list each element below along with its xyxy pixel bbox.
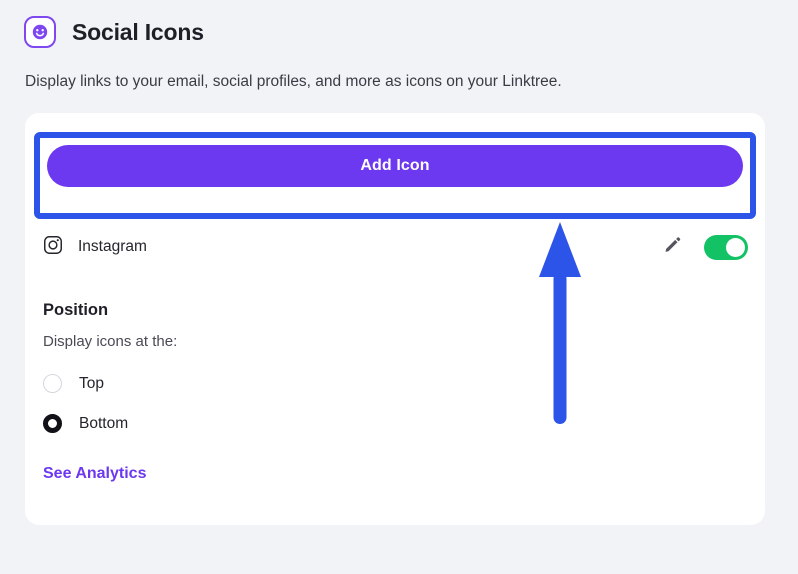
- page-subtitle: Display links to your email, social prof…: [25, 73, 562, 91]
- social-item-controls: [663, 235, 748, 260]
- social-item-toggle[interactable]: [704, 235, 748, 260]
- add-icon-button[interactable]: Add Icon: [47, 145, 743, 187]
- toggle-knob: [726, 238, 745, 257]
- radio-top-indicator[interactable]: [43, 374, 62, 393]
- radio-top-label: Top: [79, 375, 104, 393]
- radio-bottom-label: Bottom: [79, 415, 128, 433]
- radio-option-top[interactable]: Top: [43, 374, 104, 393]
- position-heading: Position: [43, 301, 108, 320]
- see-analytics-link[interactable]: See Analytics: [43, 465, 146, 483]
- smiley-face-icon: [24, 16, 56, 48]
- position-description: Display icons at the:: [43, 333, 177, 350]
- pencil-icon[interactable]: [663, 235, 682, 259]
- instagram-icon: [42, 234, 64, 261]
- social-icons-card: Add Icon Instagram: [25, 113, 765, 525]
- page-header: Social Icons: [24, 16, 204, 48]
- social-item-row[interactable]: Instagram: [42, 225, 748, 269]
- radio-option-bottom[interactable]: Bottom: [43, 414, 128, 433]
- radio-bottom-indicator[interactable]: [43, 414, 62, 433]
- page-title: Social Icons: [72, 19, 204, 46]
- social-item-identity: Instagram: [42, 234, 663, 261]
- social-item-label: Instagram: [78, 238, 147, 256]
